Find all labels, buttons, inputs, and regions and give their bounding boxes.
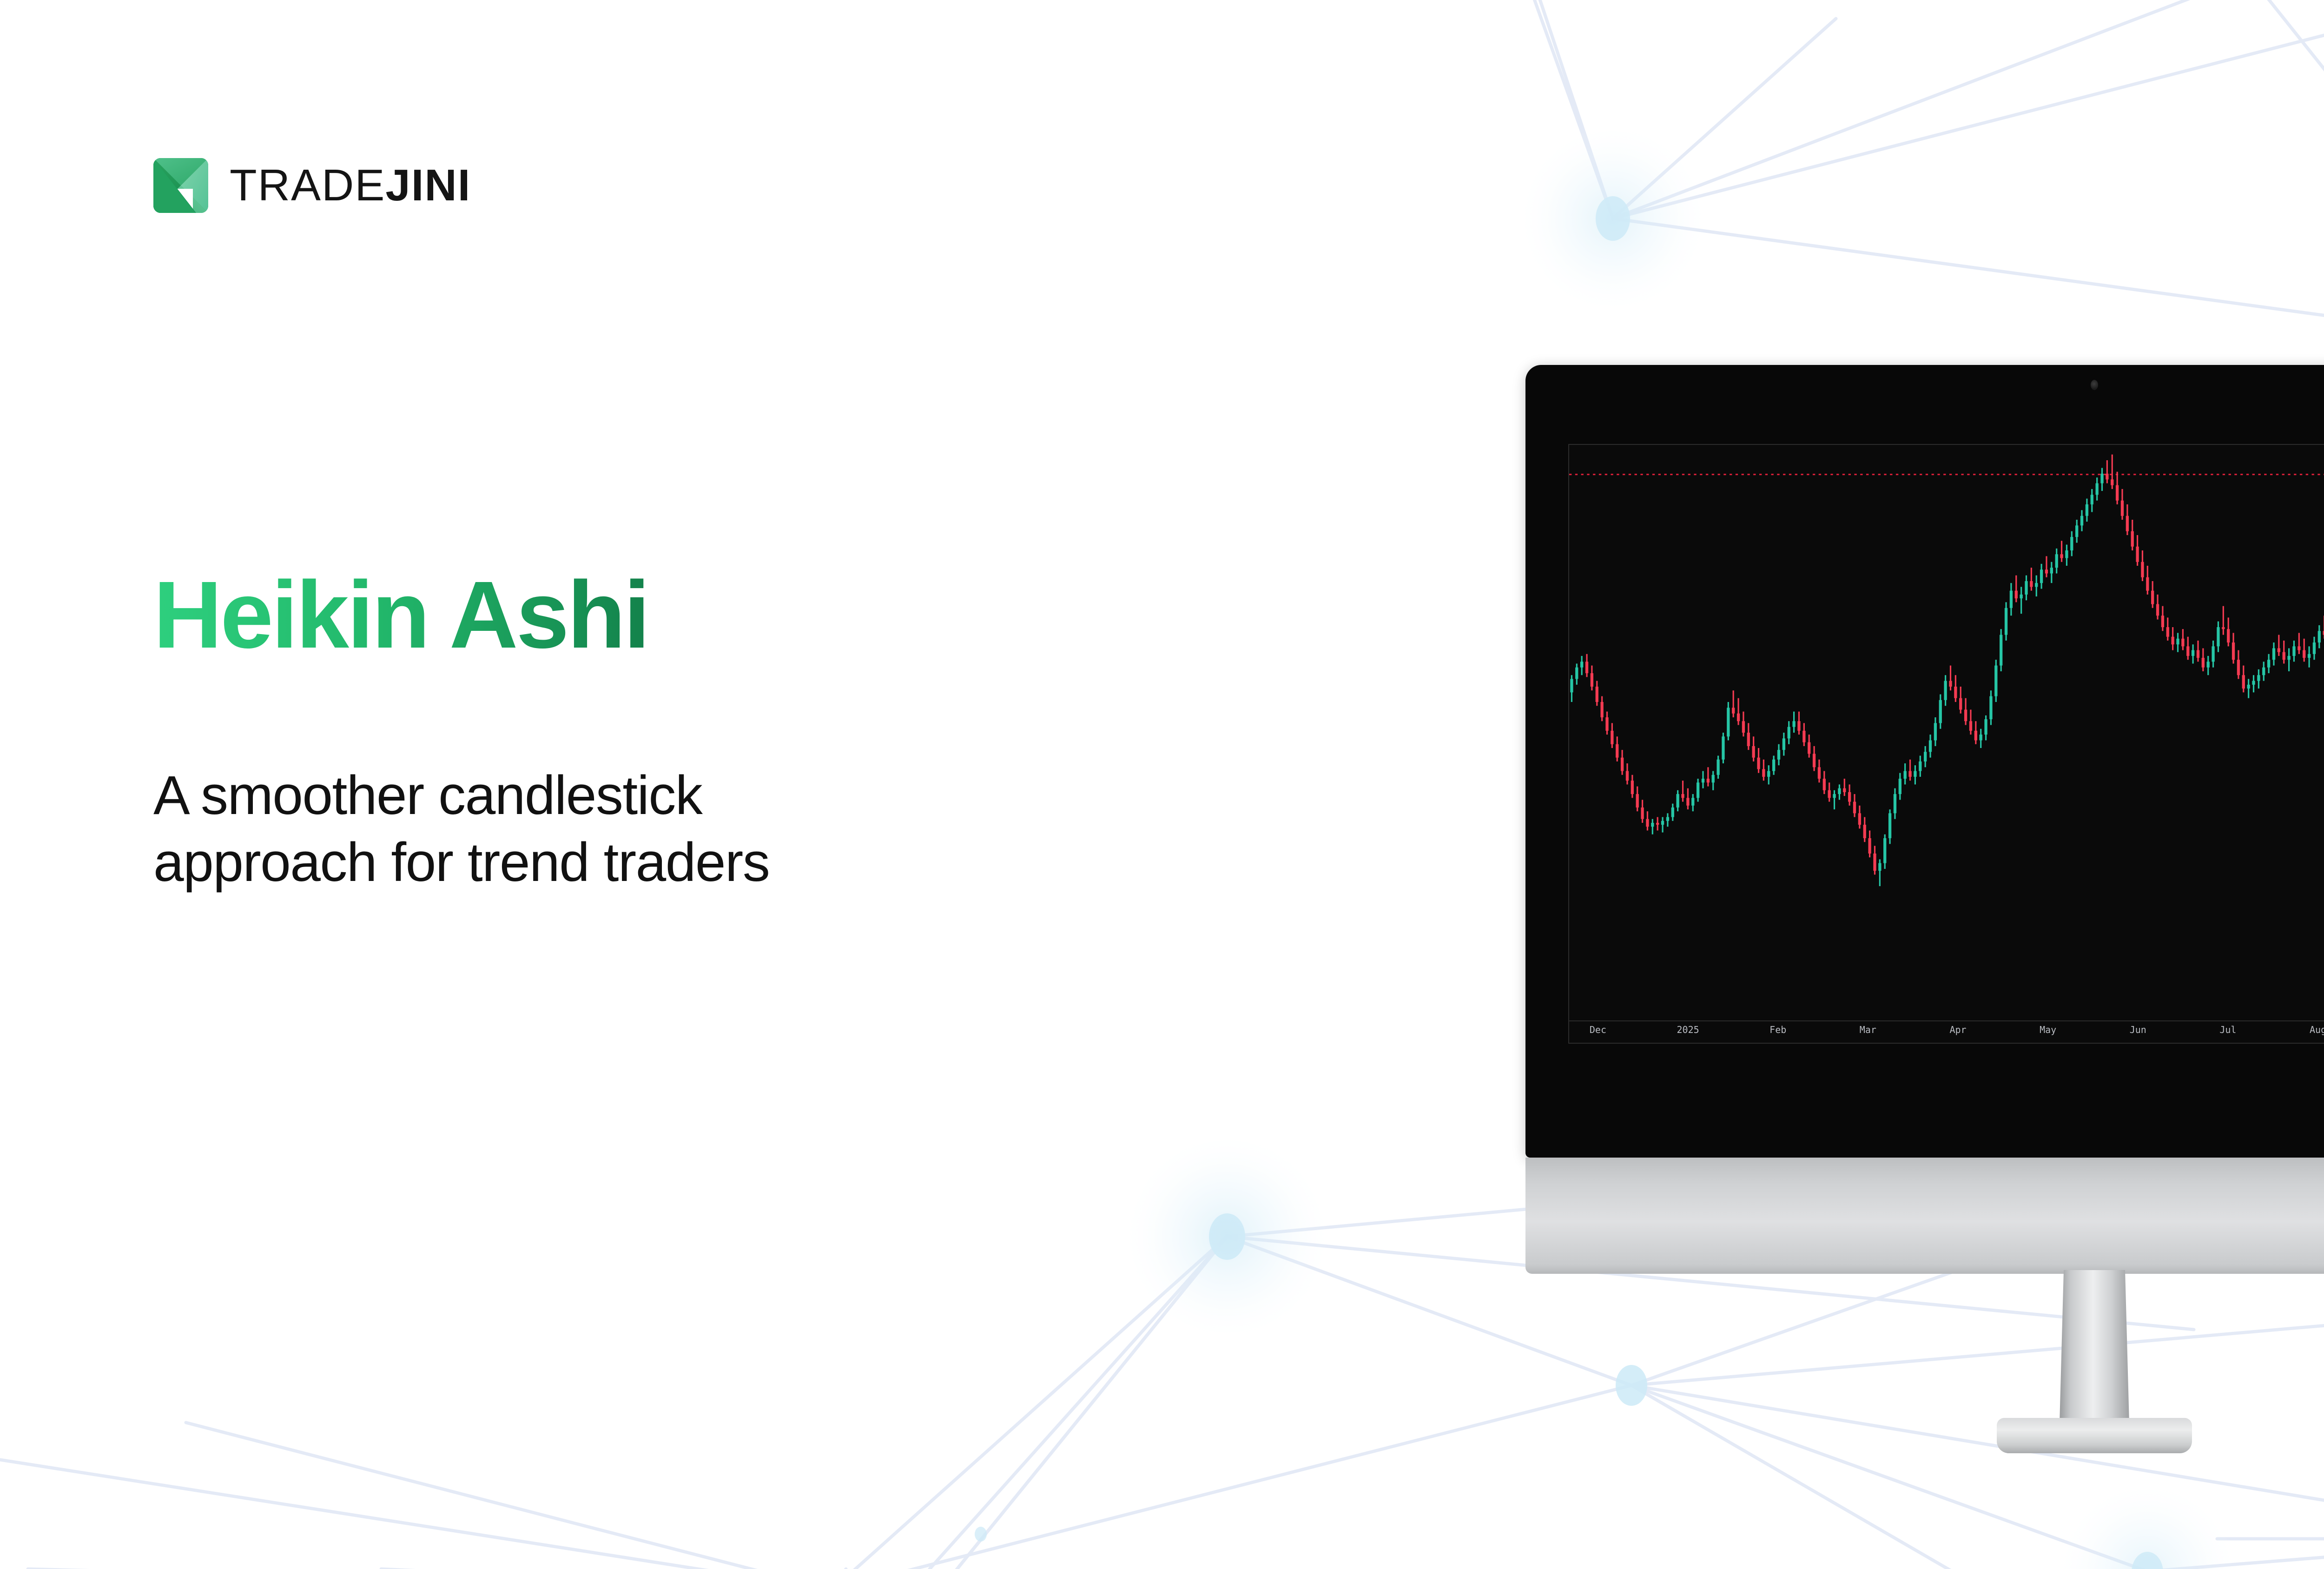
brand-logo[interactable]: TRADEJINI bbox=[153, 158, 471, 213]
time-axis[interactable]: Dec2025FebMarAprMayJunJulAugSepOct bbox=[1569, 1020, 2324, 1043]
candlestick-series bbox=[1569, 445, 2324, 1020]
time-tick-label: Jul bbox=[2219, 1024, 2236, 1035]
candlestick-plot[interactable] bbox=[1569, 445, 2324, 1020]
brand-name-bold: JINI bbox=[385, 160, 471, 210]
monitor-chin bbox=[1525, 1158, 2324, 1274]
time-tick-label: Mar bbox=[1860, 1024, 1876, 1035]
time-tick-label: 2025 bbox=[1677, 1024, 1699, 1035]
subtitle-line-1: A smoother candlestick bbox=[153, 762, 769, 829]
monitor-screen-body: 1,520.001,480.001,440.001,400.001,320.00… bbox=[1525, 365, 2324, 1158]
time-tick-label: Jun bbox=[2130, 1024, 2146, 1035]
time-tick-label: May bbox=[2040, 1024, 2056, 1035]
desktop-monitor: 1,520.001,480.001,440.001,400.001,320.00… bbox=[1525, 365, 2324, 1155]
time-tick-label: Dec bbox=[1590, 1024, 1606, 1035]
time-tick-label: Aug bbox=[2310, 1024, 2324, 1035]
chart-viewport[interactable]: 1,520.001,480.001,440.001,400.001,320.00… bbox=[1568, 444, 2324, 1044]
brand-wordmark: TRADEJINI bbox=[230, 163, 471, 208]
page-title: Heikin Ashi bbox=[153, 565, 648, 665]
webcam-icon bbox=[2091, 380, 2098, 390]
subtitle-line-2: approach for trend traders bbox=[153, 829, 769, 896]
brand-name-light: TRADE bbox=[230, 160, 385, 210]
time-tick-label: Apr bbox=[1949, 1024, 1966, 1035]
monitor-stand-foot bbox=[1997, 1418, 2192, 1453]
tradejini-logo-icon bbox=[153, 158, 208, 213]
hero-copy-column: TRADEJINI Heikin Ashi A smoother candles… bbox=[0, 0, 1487, 1569]
monitor-stand-neck bbox=[2060, 1270, 2129, 1423]
time-tick-label: Feb bbox=[1769, 1024, 1786, 1035]
page-subtitle: A smoother candlestick approach for tren… bbox=[153, 762, 769, 896]
